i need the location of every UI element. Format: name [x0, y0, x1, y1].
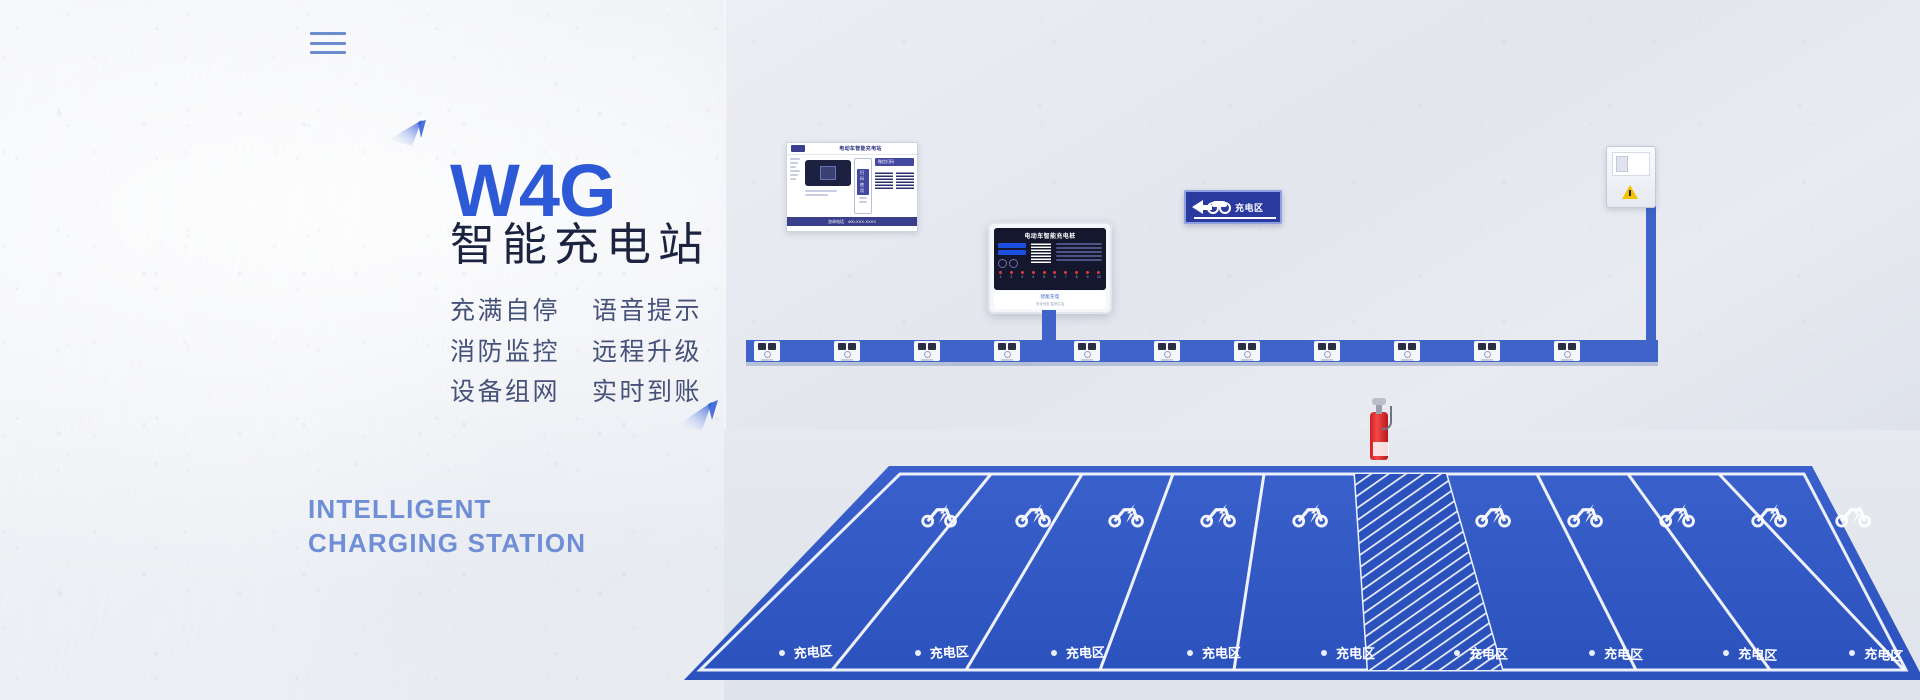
hamburger-bar [310, 32, 346, 35]
knob-icon[interactable] [1009, 259, 1018, 268]
feature-item: 实时到账 [592, 375, 702, 410]
left-arrow-icon [1192, 200, 1203, 214]
hamburger-icon[interactable] [310, 32, 346, 54]
bay-label: 充电区 [1469, 646, 1508, 662]
charging-pile-middle [994, 240, 1106, 268]
port-indicator[interactable]: 7 [1064, 271, 1067, 279]
wall-socket[interactable] [1074, 341, 1100, 361]
charging-pile-title: 电动车智能充电桩 [994, 231, 1106, 240]
poster-text-line [790, 174, 798, 176]
poster-footer-label: 咨询电话 [828, 219, 844, 225]
poster-text-line [790, 178, 796, 180]
poster-text-line [790, 162, 798, 164]
poster-step-chip: 扫码使用 [857, 169, 869, 195]
poster-column-left [790, 158, 802, 214]
feature-item: 语音提示 [592, 294, 702, 329]
poster-column-device [805, 158, 851, 214]
power-riser [1646, 196, 1656, 348]
poster-footer-phone: 400-XXX-XXXX [848, 219, 876, 224]
bay-label: 充电区 [1604, 646, 1644, 662]
led-display [998, 243, 1026, 248]
feature-row: 充满自停 语音提示 [450, 294, 740, 329]
poster-steps-box: 扫码使用 [854, 158, 872, 214]
breaker-window [1612, 152, 1650, 176]
wall-rail-shadow [746, 362, 1658, 366]
wall-socket[interactable] [1474, 341, 1500, 361]
port-indicator[interactable]: 1 [999, 271, 1002, 279]
charging-pile-brand: 智能充电 [1041, 294, 1060, 300]
wall-socket[interactable] [994, 341, 1020, 361]
wall-edge [724, 0, 726, 468]
charging-pile-screen: 电动车智能充电桩 [994, 228, 1106, 290]
breaker-box[interactable] [1606, 146, 1656, 208]
wall-socket[interactable] [1554, 341, 1580, 361]
poster-title: 电动车智能充电站 [808, 145, 913, 152]
direction-sign: 充电区 [1184, 190, 1282, 224]
page-subtitle: 智能充电站 [450, 218, 710, 271]
hamburger-bar [310, 42, 346, 45]
port-indicator[interactable]: 4 [1032, 271, 1035, 279]
wall-socket[interactable] [1394, 341, 1420, 361]
poster-device-image [805, 160, 851, 186]
charging-pile-footer: 智能充电 安全充电 智慧生活 [994, 291, 1106, 309]
charging-pile-ports: 1 2 3 4 5 6 7 8 9 10 [994, 268, 1106, 279]
port-indicator[interactable]: 10 [1097, 271, 1101, 279]
port-indicator[interactable]: 6 [1053, 271, 1056, 279]
poster-text-line [859, 197, 867, 199]
feature-item: 充满自停 [450, 294, 592, 329]
poster-footer: 咨询电话 400-XXX-XXXX [787, 217, 917, 226]
hero-banner: W4G 智能充电站 充满自停 语音提示 消防监控 远程升级 设备组网 实时到账 … [0, 0, 1920, 700]
wall-background [724, 0, 1920, 468]
bay-label: 充电区 [1066, 645, 1106, 661]
wall-socket[interactable] [1154, 341, 1180, 361]
bay-label: 充电区 [1864, 646, 1904, 664]
instruction-line [1056, 255, 1102, 257]
charging-pile[interactable]: 电动车智能充电桩 [988, 222, 1112, 314]
poster-section-badge: 微信扫码 [875, 158, 914, 166]
parking-lot: 充电区 充电区 充电区 充电区 充电区 充电区 充电区 充电区 充电区 [564, 452, 1920, 700]
qr-code-icon [896, 171, 914, 189]
feature-row: 设备组网 实时到账 [450, 375, 740, 410]
page-title: W4G [450, 154, 616, 228]
wall-texture [724, 0, 1920, 468]
charging-pile-subtitle: 安全充电 智慧生活 [1036, 301, 1064, 306]
port-indicator[interactable]: 9 [1086, 271, 1089, 279]
wall-socket[interactable] [754, 341, 780, 361]
wall-socket[interactable] [914, 341, 940, 361]
port-indicator[interactable]: 8 [1075, 271, 1078, 279]
charging-pile-qr-wrap [1029, 243, 1053, 268]
knob-icon[interactable] [998, 259, 1007, 268]
poster-logo [791, 145, 805, 152]
poster-text-line [790, 158, 800, 160]
feature-row: 消防监控 远程升级 [450, 335, 740, 370]
feature-item: 消防监控 [450, 335, 592, 370]
qr-code-icon[interactable] [1031, 243, 1051, 263]
bay-label: 充电区 [1738, 646, 1778, 663]
bay-label: 充电区 [1202, 645, 1241, 661]
decorative-arrow-icon [388, 120, 426, 164]
led-display [998, 250, 1026, 255]
qr-code-icon [875, 171, 893, 189]
parking-surface [684, 466, 1920, 680]
port-indicator[interactable]: 2 [1010, 271, 1013, 279]
wall-poster: 电动车智能充电站 扫码使用 [786, 142, 918, 232]
feature-item: 设备组网 [450, 375, 592, 410]
instruction-line [1056, 251, 1102, 253]
illustration-scene: 电动车智能充电站 扫码使用 [724, 0, 1920, 700]
sign-underline [1194, 217, 1276, 219]
charging-pile-instructions [1056, 243, 1102, 268]
wall-power-rail [746, 340, 1658, 362]
poster-text-line [805, 190, 837, 192]
poster-body: 扫码使用 微信扫码 [787, 155, 917, 217]
extinguisher-handle [1372, 398, 1386, 405]
breaker-switch[interactable] [1616, 156, 1628, 172]
instruction-line [1056, 247, 1102, 249]
port-indicator[interactable]: 5 [1043, 271, 1046, 279]
english-tagline: INTELLIGENT CHARGING STATION [308, 492, 586, 561]
feature-list: 充满自停 语音提示 消防监控 远程升级 设备组网 实时到账 [450, 294, 740, 416]
poster-qr-column: 微信扫码 [875, 158, 914, 214]
bay-label: 充电区 [1336, 646, 1375, 661]
poster-text-line [859, 201, 867, 203]
wall-socket[interactable] [1314, 341, 1340, 361]
instruction-line [1056, 259, 1102, 261]
direction-sign-label: 充电区 [1235, 201, 1264, 214]
hamburger-bar [310, 51, 346, 54]
wall-socket[interactable] [1234, 341, 1260, 361]
extinguisher-hose [1382, 406, 1392, 430]
warning-triangle-icon [1622, 185, 1638, 199]
instruction-line [1056, 243, 1102, 245]
wall-socket[interactable] [834, 341, 860, 361]
bay-label: 充电区 [929, 644, 969, 661]
port-indicator[interactable]: 3 [1021, 271, 1024, 279]
bay-label: 充电区 [793, 643, 833, 661]
poster-header: 电动车智能充电站 [787, 143, 917, 155]
english-tagline-line1: INTELLIGENT [308, 492, 586, 526]
scooter-icon [1207, 200, 1231, 214]
poster-text-line [790, 170, 800, 172]
fire-extinguisher [1368, 398, 1390, 460]
feature-item: 远程升级 [592, 335, 702, 370]
poster-text-line [790, 166, 796, 168]
charging-pile-display [998, 243, 1026, 268]
english-tagline-line2: CHARGING STATION [308, 526, 586, 560]
poster-text-line [805, 194, 828, 196]
